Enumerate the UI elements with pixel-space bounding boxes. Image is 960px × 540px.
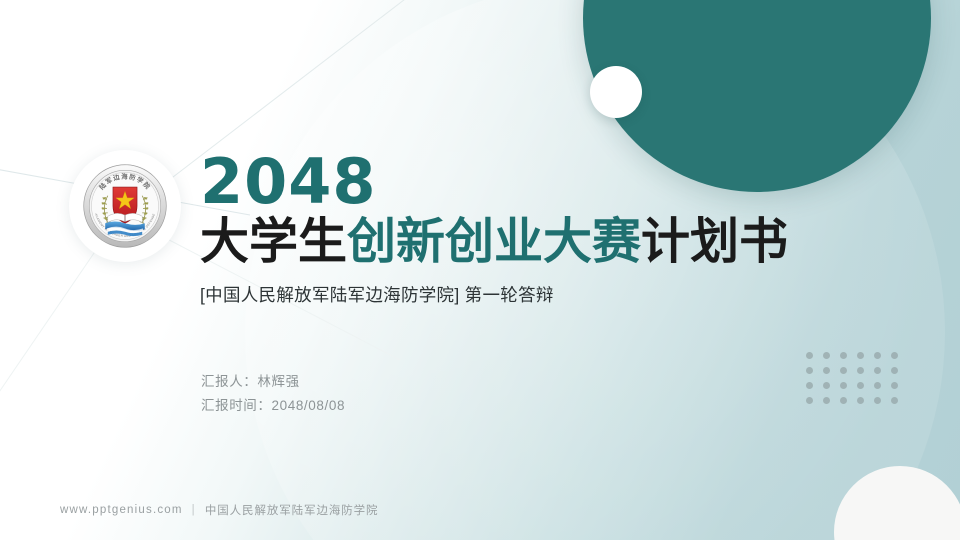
title-text-block: 2048 大学生创新创业大赛计划书 [中国人民解放军陆军边海防学院] 第一轮答辩 (200, 150, 840, 307)
title-part-1: 大学生 (200, 215, 347, 269)
footer: www.pptgenius.com | 中国人民解放军陆军边海防学院 (60, 502, 378, 518)
presenter-name: 汇报人：林辉强 (201, 370, 345, 394)
dot-grid-decor (806, 352, 908, 412)
year-heading: 2048 (200, 150, 840, 213)
title-part-3: 计划书 (641, 215, 788, 269)
title-slide: 陆军边海防学院 ACADEMY OF BORDER AND COASTAL DE… (0, 0, 960, 540)
white-accent-circle-top (590, 66, 642, 118)
title-part-2-highlight: 创新创业大赛 (347, 215, 641, 269)
footer-separator: | (192, 504, 196, 516)
footer-website[interactable]: www.pptgenius.com (60, 504, 183, 516)
academy-emblem-logo: 陆军边海防学院 ACADEMY OF BORDER AND COASTAL DE… (69, 150, 181, 262)
presentation-date: 汇报时间：2048/08/08 (201, 394, 345, 418)
emblem-icon: 陆军边海防学院 ACADEMY OF BORDER AND COASTAL DE… (82, 163, 168, 249)
subtitle: [中国人民解放军陆军边海防学院] 第一轮答辩 (200, 282, 840, 307)
page-title: 大学生创新创业大赛计划书 (200, 215, 840, 270)
footer-organization: 中国人民解放军陆军边海防学院 (205, 502, 379, 518)
presenter-meta: 汇报人：林辉强 汇报时间：2048/08/08 (201, 370, 345, 417)
